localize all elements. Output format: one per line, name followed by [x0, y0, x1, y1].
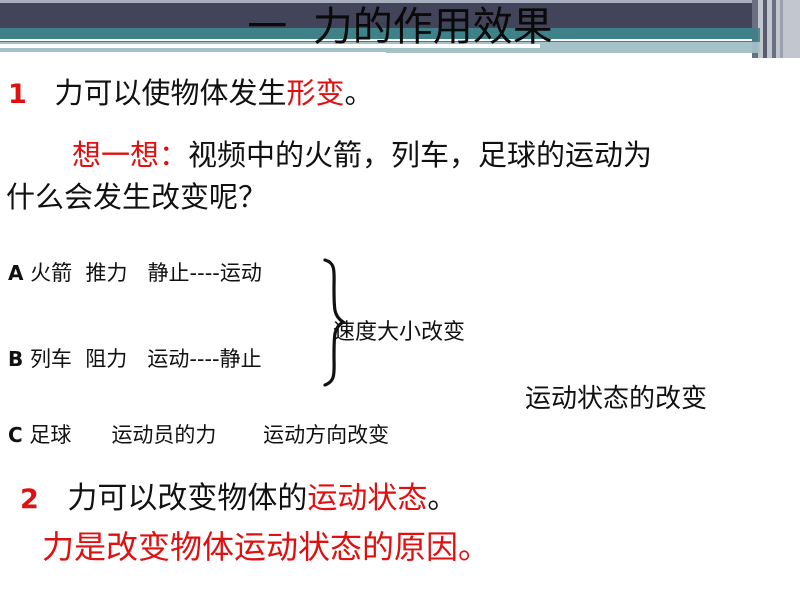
row-b-object: 列车	[30, 347, 72, 371]
row-b-spacer2	[72, 347, 85, 371]
prompt-text-line-1: 视频中的火箭，列车，足球的运动为	[188, 138, 652, 172]
conclusion-line: 力是改变物体运动状态的原因。	[42, 530, 490, 565]
slide-canvas: 一 力的作用效果 1 力可以使物体发生形变。 想一想：视频中的火箭，列车，足球的…	[0, 0, 800, 600]
row-a-force: 推力	[86, 261, 128, 285]
point-1-highlight: 形变	[286, 76, 344, 110]
point-2-number: 2	[20, 484, 39, 515]
point-2-text-before: 力可以改变物体的	[39, 481, 308, 516]
brace-label: 速度大小改变	[333, 314, 465, 346]
row-c-change: 运动方向改变	[263, 423, 389, 447]
row-c-object: 足球	[29, 423, 71, 447]
prompt-line-1: 想一想：视频中的火箭，列车，足球的运动为	[72, 140, 652, 172]
row-a-letter: A	[8, 261, 23, 285]
row-c-spacer2	[71, 423, 111, 447]
point-1-line: 1 力可以使物体发生形变。	[8, 78, 373, 110]
table-row-a: A 火箭 推力 静止----运动	[8, 257, 262, 287]
row-b-spacer3	[127, 347, 147, 371]
row-a-object: 火箭	[30, 261, 72, 285]
row-a-spacer3	[128, 261, 148, 285]
row-b-change: 运动----静止	[147, 347, 261, 371]
point-2-text-after: 。	[427, 481, 457, 516]
row-c-letter: C	[8, 423, 23, 447]
point-2-highlight: 运动状态	[307, 481, 427, 516]
page-title: 一 力的作用效果	[0, 6, 800, 48]
row-a-change: 静止----运动	[148, 261, 262, 285]
table-row-c: C 足球 运动员的力 运动方向改变	[8, 419, 389, 449]
point-2-line: 2 力可以改变物体的运动状态。	[20, 482, 457, 515]
row-c-spacer3	[216, 423, 263, 447]
banner-white-base	[0, 58, 752, 72]
point-1-text-after: 。	[344, 76, 373, 110]
point-1-number: 1	[8, 79, 27, 110]
prompt-line-2: 什么会发生改变呢？	[6, 182, 267, 214]
table-row-b: B 列车 阻力 运动----静止	[8, 343, 262, 373]
prompt-label: 想一想：	[72, 138, 188, 172]
row-b-letter: B	[8, 347, 23, 371]
summary-label: 运动状态的改变	[525, 378, 707, 415]
row-a-spacer2	[72, 261, 85, 285]
row-b-spacer	[23, 347, 30, 371]
row-c-force: 运动员的力	[111, 423, 216, 447]
point-1-text-before: 力可以使物体发生	[27, 76, 287, 110]
row-b-force: 阻力	[85, 347, 127, 371]
